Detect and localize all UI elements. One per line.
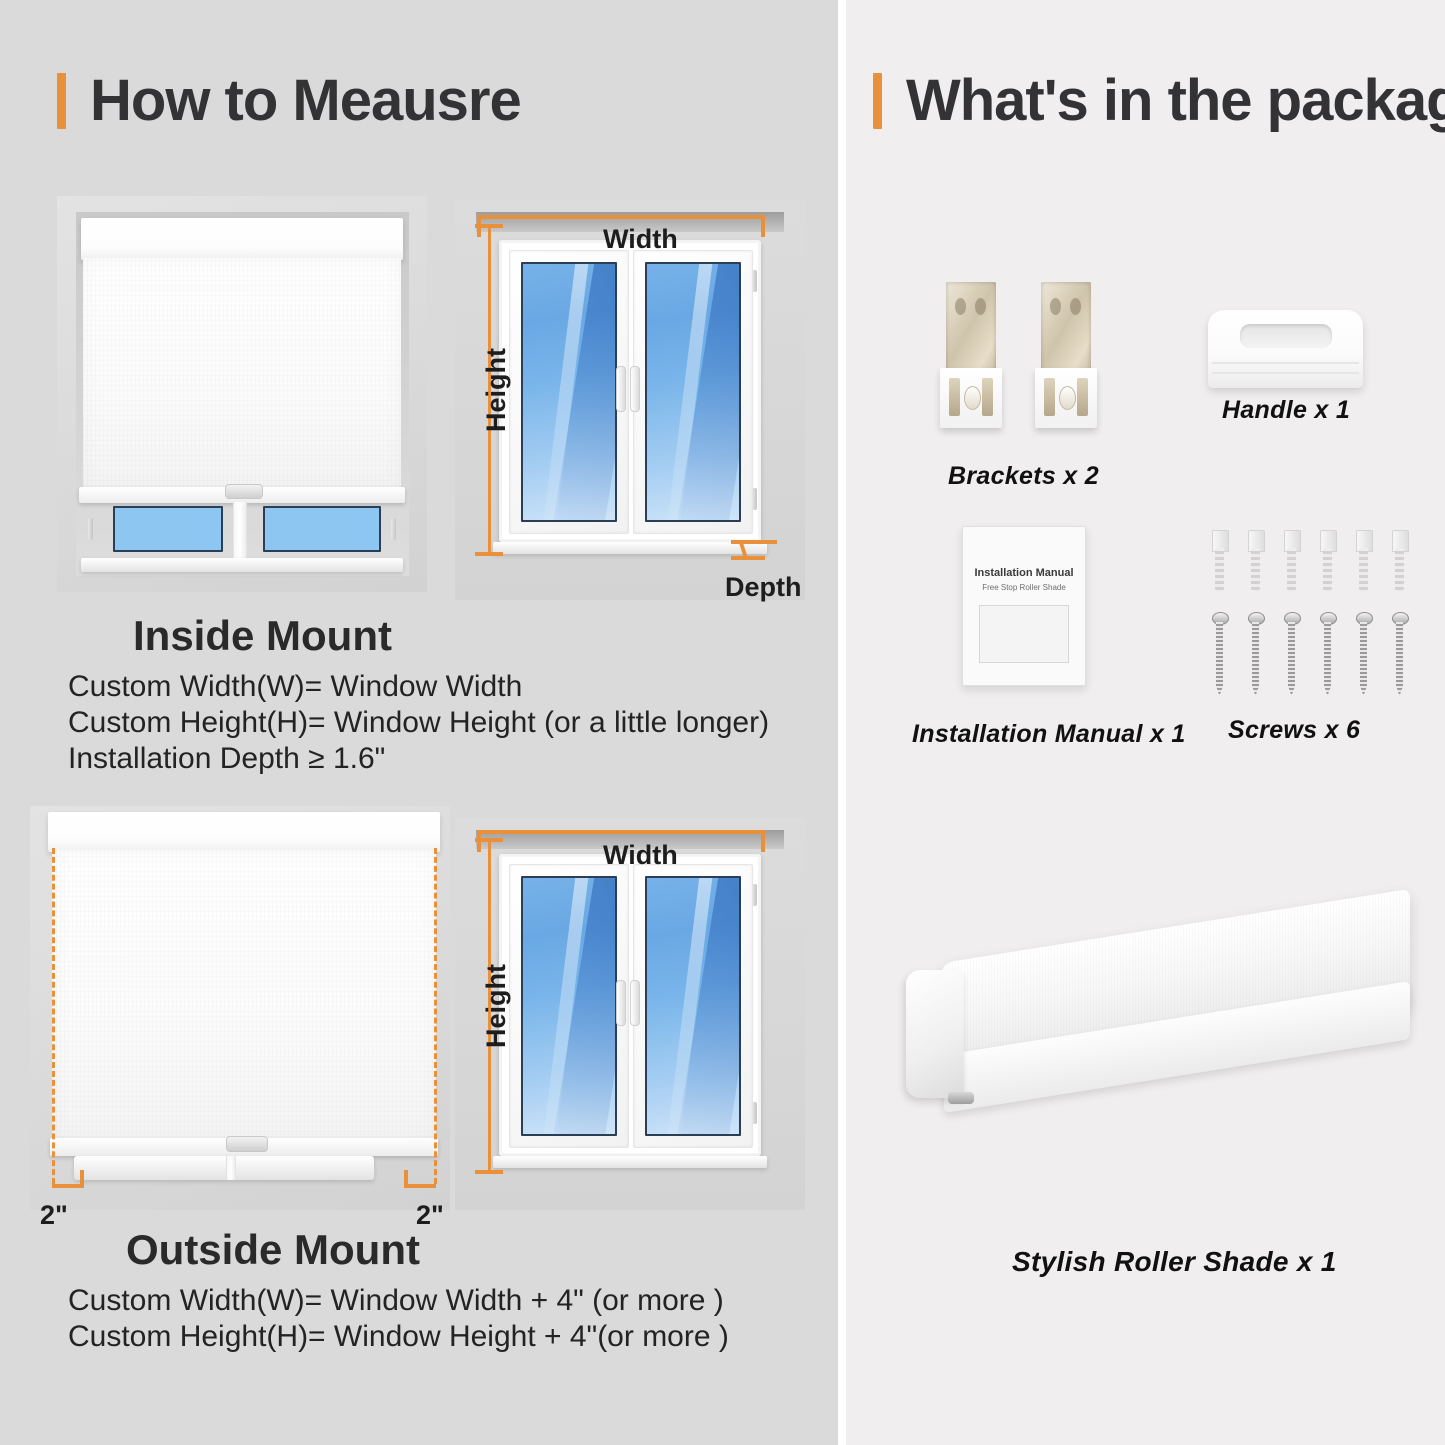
screw-icon bbox=[1248, 612, 1263, 696]
screw-icon bbox=[1356, 612, 1371, 696]
height-measure-tick-top bbox=[475, 224, 503, 228]
manual-cover-subtitle: Free Stop Roller Shade bbox=[963, 583, 1085, 592]
width-measure-line bbox=[477, 830, 765, 834]
height-label: Height bbox=[481, 964, 512, 1048]
window-handle-right-icon bbox=[630, 366, 640, 412]
overhang-right-label: 2" bbox=[416, 1200, 444, 1231]
window-handles bbox=[616, 366, 640, 412]
height-label: Height bbox=[481, 348, 512, 432]
anchor-body bbox=[1323, 548, 1332, 592]
window-mullion bbox=[226, 1156, 236, 1180]
bracket-slot-left bbox=[949, 378, 960, 416]
shade-fabric bbox=[83, 258, 401, 491]
overhang-measure-right bbox=[404, 1184, 436, 1188]
glass-streak bbox=[662, 262, 715, 522]
screw-shaft bbox=[1360, 622, 1367, 696]
roller-shade-endcap bbox=[906, 970, 964, 1098]
glass-streak bbox=[538, 262, 591, 522]
overhang-tick-right bbox=[404, 1170, 408, 1188]
wall-anchor-icon bbox=[1246, 530, 1265, 592]
window-handles bbox=[616, 980, 640, 1026]
height-measure-tick-bottom bbox=[475, 1170, 503, 1174]
panel-divider bbox=[838, 0, 846, 1445]
window-glass-left bbox=[521, 876, 617, 1136]
handle-slot bbox=[1240, 324, 1332, 348]
manual-cover-image bbox=[979, 605, 1069, 663]
bracket-slot-right bbox=[982, 378, 993, 416]
depth-label: Depth bbox=[725, 572, 802, 603]
screw-shaft bbox=[1324, 622, 1331, 696]
window-sill bbox=[81, 558, 403, 572]
height-measure-tick-top bbox=[475, 838, 503, 842]
window-glass-left bbox=[521, 262, 617, 522]
pull-tab bbox=[225, 484, 263, 499]
overhang-left-label: 2" bbox=[40, 1200, 68, 1231]
wall-anchor-icon bbox=[1318, 530, 1337, 592]
screw-icon bbox=[1212, 612, 1227, 696]
roller-shade-icon bbox=[900, 900, 1440, 1200]
bracket-icon bbox=[940, 282, 1002, 432]
window-handle-left-icon bbox=[616, 980, 626, 1026]
handle-label: Handle x 1 bbox=[1222, 396, 1350, 425]
how-to-measure-heading: How to Meausre bbox=[57, 72, 521, 130]
outside-mount-line-1: Custom Width(W)= Window Width + 4" (or m… bbox=[68, 1284, 724, 1318]
overhang-guide-left bbox=[52, 848, 55, 1184]
window-frame bbox=[499, 854, 761, 1156]
handle-icon bbox=[1208, 310, 1363, 388]
window-hinge-left-icon bbox=[88, 518, 93, 540]
glass-streak bbox=[662, 876, 715, 1136]
width-label: Width bbox=[603, 840, 678, 871]
anchor-body bbox=[1215, 548, 1224, 592]
width-measure-tick-right bbox=[761, 830, 765, 852]
manual-label: Installation Manual x 1 bbox=[912, 720, 1186, 749]
window-glass-right bbox=[645, 262, 741, 522]
window-sash-left bbox=[509, 864, 629, 1148]
outside-mount-window-diagram: Width Height bbox=[455, 818, 805, 1210]
handle-ridge bbox=[1212, 362, 1359, 364]
wall-anchor-icon bbox=[1282, 530, 1301, 592]
window-sash-right bbox=[633, 864, 753, 1148]
how-to-measure-title: How to Meausre bbox=[90, 72, 521, 130]
manual-icon: Installation Manual Free Stop Roller Sha… bbox=[962, 526, 1086, 686]
roller-shade-chrome-pin bbox=[948, 1092, 974, 1104]
roller-shade-label: Stylish Roller Shade x 1 bbox=[1012, 1246, 1337, 1278]
anchor-body bbox=[1287, 548, 1296, 592]
inside-mount-line-1: Custom Width(W)= Window Width bbox=[68, 670, 522, 704]
screw-icon bbox=[1284, 612, 1299, 696]
bracket-slot-left bbox=[1044, 378, 1055, 416]
shade-fabric bbox=[52, 850, 436, 1142]
valance bbox=[48, 812, 440, 852]
inside-mount-line-2: Custom Height(H)= Window Height (or a li… bbox=[68, 706, 769, 740]
bracket-hole bbox=[964, 386, 981, 410]
height-measure-tick-bottom bbox=[475, 552, 503, 556]
window-sash-left bbox=[509, 250, 629, 534]
window-sash-right bbox=[633, 250, 753, 534]
window-sill bbox=[493, 1156, 767, 1168]
window-mullion bbox=[233, 502, 247, 564]
window-sill bbox=[74, 1156, 374, 1180]
wall-anchor-icon bbox=[1354, 530, 1373, 592]
window-hinge-bottom-icon bbox=[752, 488, 757, 510]
screws-label: Screws x 6 bbox=[1228, 716, 1360, 745]
window-handle-left-icon bbox=[616, 366, 626, 412]
outside-mount-illustration bbox=[30, 806, 450, 1210]
outside-mount-line-2: Custom Height(H)= Window Height + 4"(or … bbox=[68, 1320, 729, 1354]
anchor-body bbox=[1395, 548, 1404, 592]
anchor-body bbox=[1359, 548, 1368, 592]
bracket-icon bbox=[1035, 282, 1097, 432]
accent-bar-icon bbox=[57, 73, 66, 129]
wall-anchor-icon bbox=[1390, 530, 1409, 592]
width-measure-tick-right bbox=[761, 215, 765, 237]
window-handle-right-icon bbox=[630, 980, 640, 1026]
inside-mount-title: Inside Mount bbox=[133, 612, 392, 660]
window-frame bbox=[499, 240, 761, 542]
screw-shaft bbox=[1216, 622, 1223, 696]
valance bbox=[81, 218, 403, 260]
package-title: What's in the package bbox=[906, 72, 1445, 130]
overhang-guide-right bbox=[434, 848, 437, 1184]
glass-streak bbox=[538, 876, 591, 1136]
depth-measure-base bbox=[731, 556, 765, 560]
bracket-slot-right bbox=[1077, 378, 1088, 416]
window-hinge-right-icon bbox=[391, 518, 396, 540]
wall-anchor-icon bbox=[1210, 530, 1229, 592]
outside-mount-title: Outside Mount bbox=[126, 1226, 420, 1274]
window-hinge-top-icon bbox=[752, 884, 757, 906]
window-sill bbox=[493, 542, 767, 554]
pull-tab bbox=[226, 1136, 268, 1152]
window-pane-left bbox=[113, 506, 223, 552]
window-pane-right bbox=[263, 506, 381, 552]
screw-shaft bbox=[1252, 622, 1259, 696]
brackets-label: Brackets x 2 bbox=[948, 462, 1099, 491]
window-hinge-top-icon bbox=[752, 270, 757, 292]
anchor-body bbox=[1251, 548, 1260, 592]
window-hinge-bottom-icon bbox=[752, 1102, 757, 1124]
package-heading: What's in the package bbox=[873, 72, 1445, 130]
accent-bar-icon bbox=[873, 73, 882, 129]
screw-shaft bbox=[1396, 622, 1403, 696]
width-measure-line bbox=[477, 215, 765, 219]
bracket-hole bbox=[1059, 386, 1076, 410]
screw-icon bbox=[1392, 612, 1407, 696]
inside-mount-illustration bbox=[57, 196, 427, 592]
window-glass-right bbox=[645, 876, 741, 1136]
inside-mount-line-3: Installation Depth ≥ 1.6" bbox=[68, 742, 385, 776]
inside-mount-window-diagram: Width Height Depth bbox=[455, 200, 805, 600]
infographic-page: How to Meausre bbox=[0, 0, 1445, 1445]
screw-icon bbox=[1320, 612, 1335, 696]
screw-shaft bbox=[1288, 622, 1295, 696]
handle-ridge bbox=[1212, 372, 1359, 374]
manual-cover-title: Installation Manual bbox=[963, 567, 1085, 579]
overhang-tick-left bbox=[80, 1170, 84, 1188]
width-label: Width bbox=[603, 224, 678, 255]
